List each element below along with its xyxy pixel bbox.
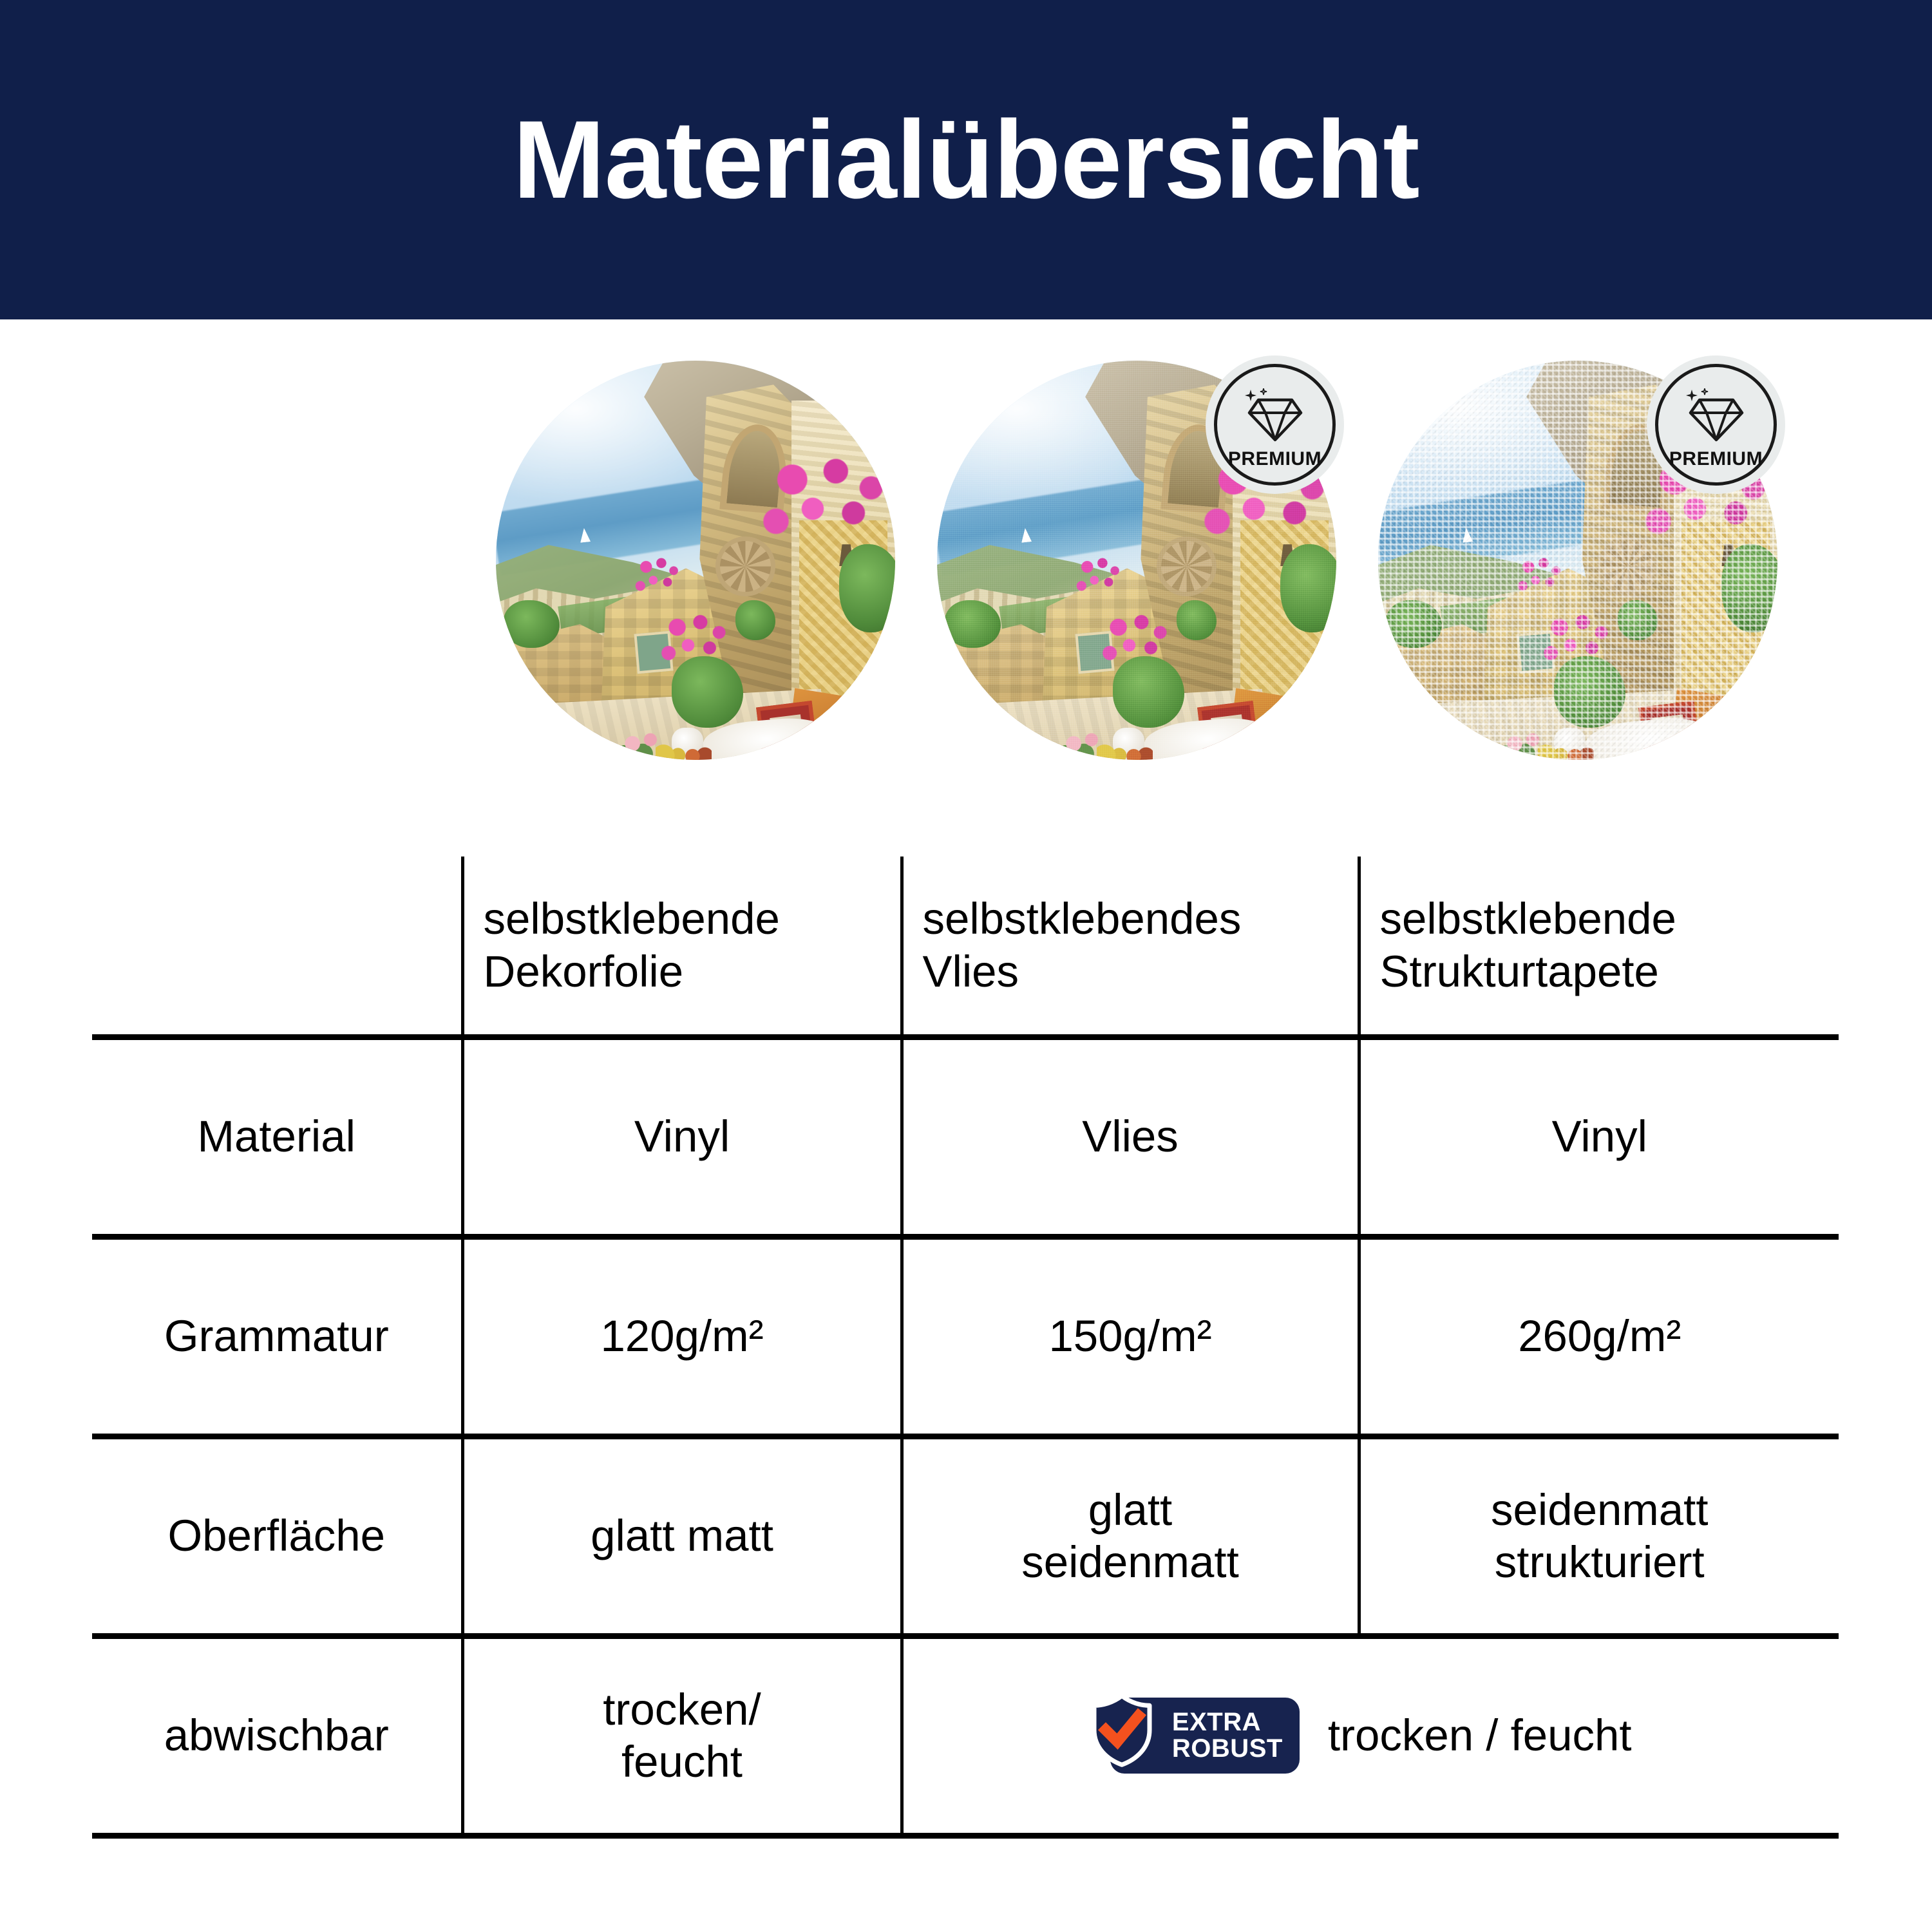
row-label-oberflaeche: Oberfläche <box>92 1436 462 1636</box>
bougainvillea <box>1073 553 1121 600</box>
cell-line1: glatt <box>911 1484 1350 1536</box>
foliage <box>735 600 775 640</box>
table-row: Oberfläche glatt matt glatt seidenmatt s… <box>92 1436 1839 1636</box>
bougainvillea <box>752 448 887 552</box>
column-header-vlies: selbstklebendes Vlies <box>902 857 1359 1037</box>
foliage <box>1280 544 1336 632</box>
foliage <box>1177 600 1217 640</box>
rose-window <box>1157 536 1217 596</box>
product-preview-vlies[interactable]: PREMIUM <box>937 361 1336 760</box>
cell-abwischbar-dekorfolie: trocken/ feucht <box>462 1636 902 1835</box>
cell-oberflaeche-dekorfolie: glatt matt <box>462 1436 902 1636</box>
preview-image-dekorfolie <box>496 361 895 760</box>
table-row: Grammatur 120g/m² 150g/m² 260g/m² <box>92 1236 1839 1436</box>
table-header-row: selbstklebende Dekorfolie selbstklebende… <box>92 857 1839 1037</box>
fruit-bowl <box>1538 744 1594 760</box>
shield-check-icon <box>1088 1692 1155 1778</box>
cell-line2: seidenmatt <box>911 1536 1350 1588</box>
row-label-abwischbar: abwischbar <box>92 1636 462 1835</box>
cell-grammatur-vlies: 150g/m² <box>902 1236 1359 1436</box>
product-preview-strukturtapete[interactable]: PREMIUM <box>1378 361 1777 760</box>
foliage <box>839 544 895 632</box>
cell-line2: strukturiert <box>1368 1536 1832 1588</box>
foliage <box>945 600 1001 648</box>
rose-window <box>1598 536 1658 596</box>
table-row: abwischbar trocken/ feucht <box>92 1636 1839 1835</box>
specification-table: selbstklebende Dekorfolie selbstklebende… <box>92 857 1839 1839</box>
cell-material-strukturtapete: Vinyl <box>1359 1037 1839 1236</box>
premium-badge-label: PREMIUM <box>1228 448 1321 470</box>
specification-table-container: selbstklebende Dekorfolie selbstklebende… <box>92 857 1839 1839</box>
product-preview-row: PREMIUM <box>0 361 1932 773</box>
extra-robust-line2: ROBUST <box>1172 1736 1283 1762</box>
column-header-dekorfolie: selbstklebende Dekorfolie <box>462 857 902 1037</box>
material-overview-page: Materialübersicht <box>0 0 1932 1932</box>
foliage <box>1618 600 1658 640</box>
column-header-line1: selbstklebendes <box>923 893 1350 945</box>
column-header-line2: Strukturtapete <box>1380 945 1832 998</box>
extra-robust-line1: EXTRA <box>1172 1709 1283 1736</box>
cell-abwischbar-merged-value: trocken / feucht <box>1328 1709 1632 1761</box>
page-title: Materialübersicht <box>513 104 1419 215</box>
extra-robust-badge: EXTRA ROBUST <box>1110 1698 1300 1774</box>
column-header-strukturtapete: selbstklebende Strukturtapete <box>1359 857 1839 1037</box>
column-header-line2: Vlies <box>923 945 1350 998</box>
bougainvillea <box>656 608 728 672</box>
cell-material-vlies: Vlies <box>902 1037 1359 1236</box>
cell-line2: feucht <box>472 1736 893 1788</box>
bougainvillea <box>1514 553 1562 600</box>
diamond-icon <box>1244 388 1306 446</box>
fruit-bowl <box>1097 744 1153 760</box>
foliage <box>504 600 560 648</box>
cell-line1: trocken/ <box>472 1683 893 1736</box>
diamond-icon <box>1685 388 1747 446</box>
scene-illustration <box>496 361 895 760</box>
table-row: Material Vinyl Vlies Vinyl <box>92 1037 1839 1236</box>
page-header: Materialübersicht <box>0 0 1932 319</box>
row-label-grammatur: Grammatur <box>92 1236 462 1436</box>
bougainvillea <box>1538 608 1610 672</box>
foliage <box>1721 544 1777 632</box>
cell-oberflaeche-vlies: glatt seidenmatt <box>902 1436 1359 1636</box>
premium-badge: PREMIUM <box>1647 355 1785 494</box>
cell-oberflaeche-strukturtapete: seidenmatt strukturiert <box>1359 1436 1839 1636</box>
premium-badge: PREMIUM <box>1206 355 1344 494</box>
extra-robust-text: EXTRA ROBUST <box>1172 1709 1283 1762</box>
cell-abwischbar-merged: EXTRA ROBUST trocken / feucht <box>902 1636 1839 1835</box>
cell-grammatur-strukturtapete: 260g/m² <box>1359 1236 1839 1436</box>
cell-grammatur-dekorfolie: 120g/m² <box>462 1236 902 1436</box>
rose-window <box>715 536 775 596</box>
column-header-line1: selbstklebende <box>1380 893 1832 945</box>
bougainvillea <box>1097 608 1169 672</box>
fruit-bowl <box>656 744 712 760</box>
product-preview-dekorfolie[interactable] <box>496 361 895 760</box>
column-header-line1: selbstklebende <box>484 893 893 945</box>
bougainvillea <box>632 553 679 600</box>
row-label-material: Material <box>92 1037 462 1236</box>
premium-badge-label: PREMIUM <box>1669 448 1763 470</box>
column-header-line2: Dekorfolie <box>484 945 893 998</box>
foliage <box>1386 600 1442 648</box>
cell-line1: seidenmatt <box>1368 1484 1832 1536</box>
cell-material-dekorfolie: Vinyl <box>462 1037 902 1236</box>
header-empty-cell <box>92 857 462 1037</box>
